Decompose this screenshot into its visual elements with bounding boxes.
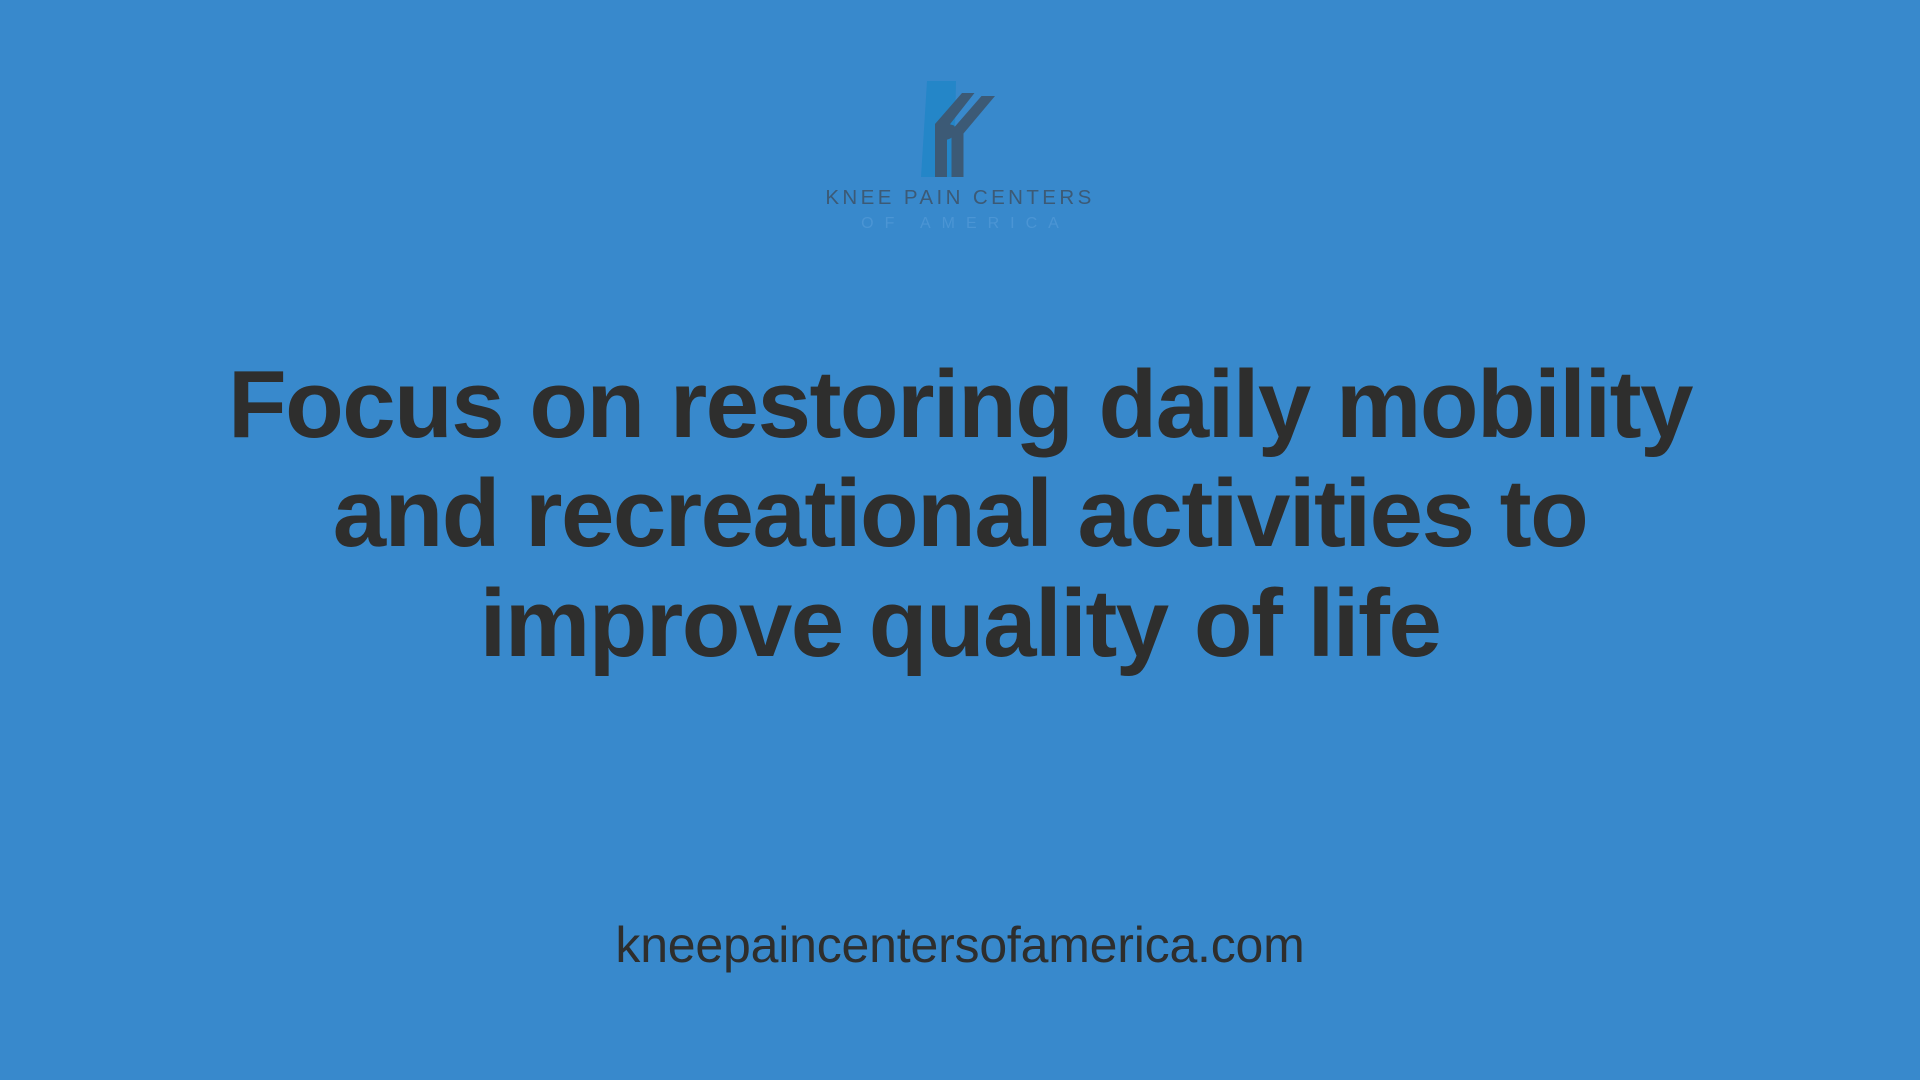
headline: Focus on restoring daily mobility and re… <box>140 350 1780 678</box>
logo-sub-wordmark: OF AMERICA <box>850 216 1070 232</box>
logo-wordmark: KNEE PAIN CENTERS <box>825 188 1094 209</box>
headline-line-1: Focus on restoring daily mobility <box>140 350 1780 459</box>
knee-joint-k-monogram-icon <box>885 78 1035 180</box>
headline-line-3: improve quality of life <box>140 569 1780 678</box>
quote-slide: KNEE PAIN CENTERS OF AMERICA Focus on re… <box>0 0 1920 1080</box>
headline-line-2: and recreational activities to <box>140 459 1780 568</box>
website-url[interactable]: kneepaincentersofamerica.com <box>615 920 1304 970</box>
brand-logo-lockup[interactable]: KNEE PAIN CENTERS OF AMERICA <box>810 78 1110 232</box>
